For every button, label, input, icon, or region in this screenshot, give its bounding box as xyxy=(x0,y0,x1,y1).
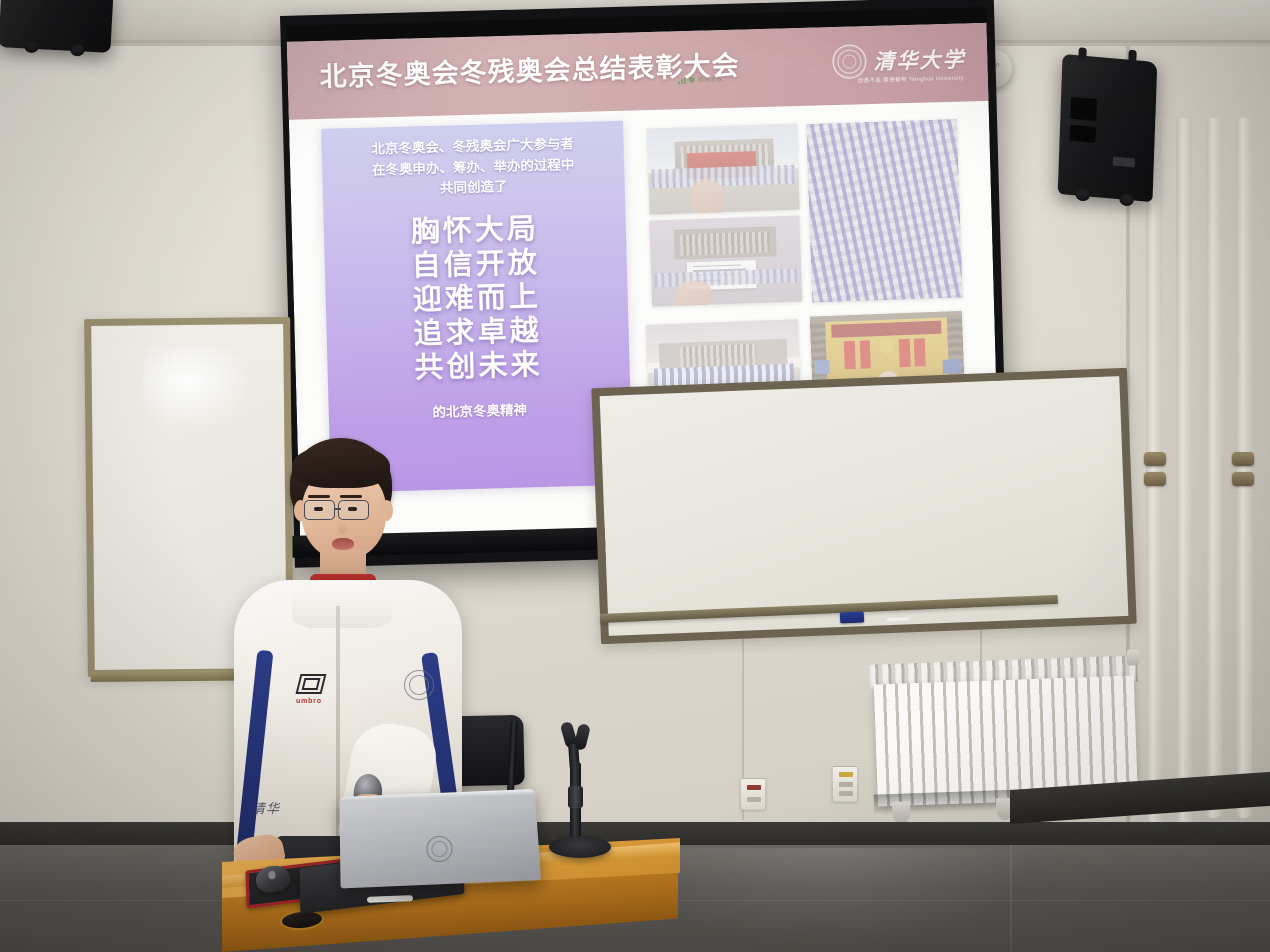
mouth xyxy=(332,538,354,550)
eyeglasses-bridge xyxy=(335,508,341,510)
tsinghua-wordmark: 清华大学 xyxy=(873,43,966,75)
tsinghua-emblem-icon xyxy=(832,44,867,79)
blue-eraser[interactable] xyxy=(840,612,864,624)
whiteboard-glare xyxy=(143,346,256,431)
floor-reflection xyxy=(620,848,1040,948)
speaker-badge xyxy=(1113,157,1135,168)
floor-tile-seam xyxy=(1010,845,1012,952)
wall-pipe xyxy=(1206,118,1222,818)
eyebrow-right xyxy=(340,495,362,498)
umbro-logo-icon xyxy=(298,674,324,694)
photo-ceremony-red-banner xyxy=(647,124,800,215)
classroom-presentation-photo: Screen 北京冬奥会冬残奥会总结表彰大会 清华大学 自强不息 厚德载物 Ts… xyxy=(0,0,1270,952)
photo-phone-note xyxy=(649,216,802,307)
spirit-lines: 胸怀大局 自信开放 迎难而上 追求卓越 共创未来 xyxy=(323,208,630,387)
umbro-wordmark: umbro xyxy=(296,698,322,705)
record-dot-icon xyxy=(689,76,695,82)
ceiling-speaker-right xyxy=(1058,54,1158,202)
meeting-watermark: 腾讯会议 xyxy=(678,74,723,84)
wall-pipe xyxy=(1236,118,1252,818)
microphone-stand-collar[interactable] xyxy=(568,786,583,808)
radiator-valve[interactable] xyxy=(1127,649,1140,665)
laptop-lid[interactable] xyxy=(339,789,541,888)
pipe-clamp xyxy=(1144,472,1166,486)
radiator-leg xyxy=(892,801,911,824)
watermark-label: 腾讯会议 xyxy=(698,74,723,84)
photo-aerial-formation xyxy=(807,119,963,302)
jacket-chest-text: 清华 xyxy=(252,798,280,817)
hair-fringe xyxy=(292,444,390,488)
ceiling-speaker-left xyxy=(0,0,114,53)
eye-right xyxy=(348,507,357,511)
slide-title-bar: 北京冬奥会冬残奥会总结表彰大会 清华大学 自强不息 厚德载物 Tsinghua … xyxy=(287,23,989,120)
pipe-clamp xyxy=(1232,452,1254,466)
speaker-port xyxy=(1070,97,1097,121)
eyebrow-left xyxy=(308,495,330,498)
pipe-clamp xyxy=(1232,472,1254,486)
slide-spirit-panel: 北京冬奥会、冬残奥会广大参与者 在冬奥申办、筹办、举办的过程中 共同创造了 胸怀… xyxy=(321,121,633,493)
signal-bars-icon xyxy=(678,76,686,84)
eye-left xyxy=(314,507,323,511)
microphone-stand-base xyxy=(549,836,611,858)
tsinghua-crest-icon xyxy=(404,670,434,700)
speaker-bracket xyxy=(1128,50,1136,63)
nose xyxy=(338,520,347,534)
pipe-clamp xyxy=(1144,452,1166,466)
jacket-collar xyxy=(292,580,392,628)
speaker-port xyxy=(1070,125,1096,143)
spirit-line-5: 共创未来 xyxy=(327,345,630,387)
tsinghua-motto: 自强不息 厚德载物 Tsinghua University xyxy=(857,74,964,85)
wall-pipe xyxy=(1176,118,1192,848)
panel-tail-line: 的北京冬奥精神 xyxy=(328,395,630,423)
ear-right xyxy=(380,500,393,521)
wall-plate-left[interactable] xyxy=(740,778,766,810)
dell-logo-icon xyxy=(426,836,453,863)
speaker-bracket xyxy=(1078,47,1086,60)
white-marker[interactable] xyxy=(887,618,909,624)
wall-plate-right[interactable] xyxy=(832,766,858,802)
slide-title: 北京冬奥会冬残奥会总结表彰大会 xyxy=(319,44,740,94)
